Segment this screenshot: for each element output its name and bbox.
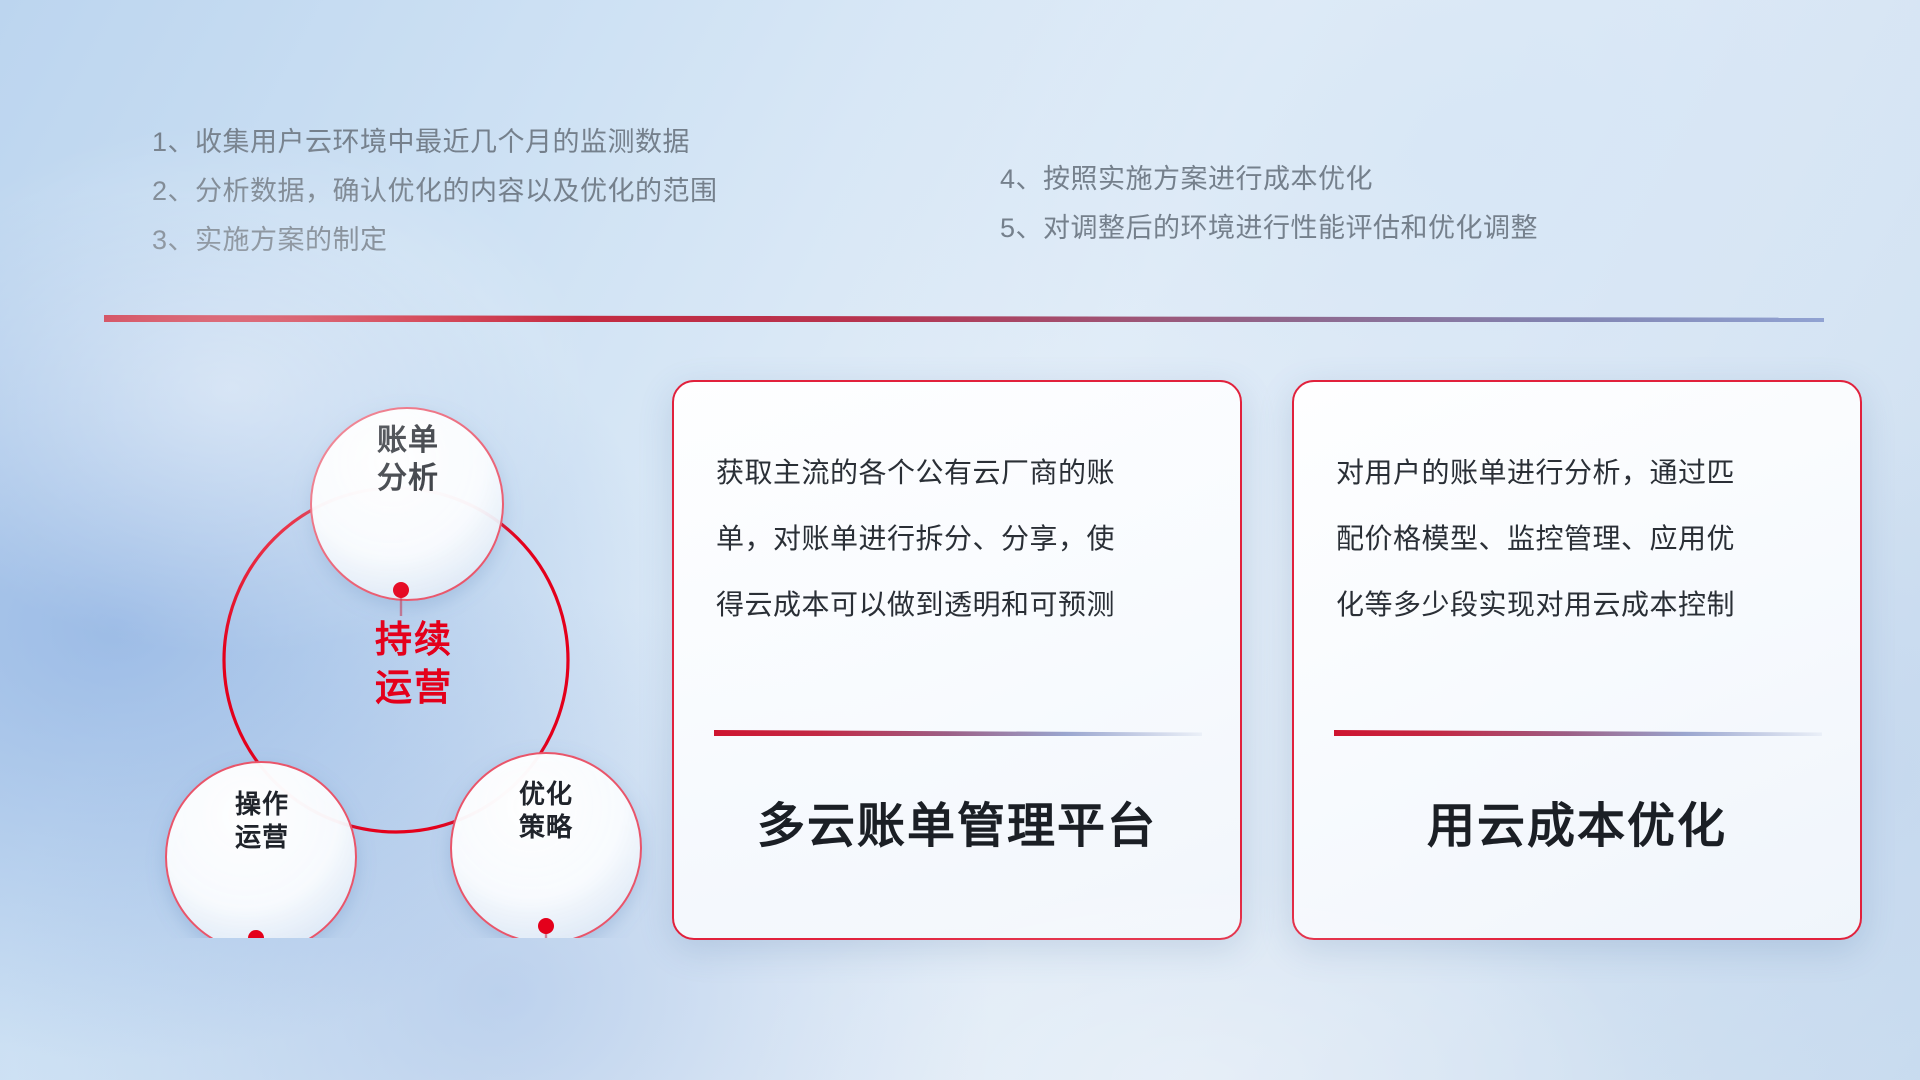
process-steps-right: 4、按照实施方案进行成本优化 5、对调整后的环境进行性能评估和优化调整: [1000, 155, 1538, 253]
process-steps-left: 1、收集用户云环境中最近几个月的监测数据 2、分析数据，确认优化的内容以及优化的…: [152, 118, 718, 265]
divider-bar: [104, 315, 1824, 322]
process-step-5: 5、对调整后的环境进行性能评估和优化调整: [1000, 204, 1538, 253]
card-1-body: 获取主流的各个公有云厂商的账 单，对账单进行拆分、分享，使 得云成本可以做到透明…: [716, 440, 1204, 637]
card-1-title: 多云账单管理平台: [674, 786, 1240, 856]
slide-background: 1、收集用户云环境中最近几个月的监测数据 2、分析数据，确认优化的内容以及优化的…: [0, 0, 1920, 1080]
card-2-body-line-3: 化等多少段实现对用云成本控制: [1336, 572, 1824, 638]
card-1-body-line-2: 单，对账单进行拆分、分享，使: [716, 506, 1204, 572]
section-divider: [104, 315, 1824, 322]
venn-dot-bill: [393, 582, 409, 598]
venn-diagram: 账单 分析 操作 运营 优化 策略 持续 运营: [96, 338, 656, 938]
venn-bubble-bill: [311, 408, 503, 600]
venn-svg: [96, 338, 656, 938]
card-1-divider: [714, 730, 1202, 736]
card-1-body-line-1: 获取主流的各个公有云厂商的账: [716, 440, 1204, 506]
card-2-title: 用云成本优化: [1294, 786, 1860, 856]
card-2-divider: [1334, 730, 1822, 736]
process-step-1: 1、收集用户云环境中最近几个月的监测数据: [152, 118, 718, 167]
venn-dot-strategy: [538, 918, 554, 934]
venn-bubble-ops: [166, 762, 356, 938]
process-step-2: 2、分析数据，确认优化的内容以及优化的范围: [152, 167, 718, 216]
process-step-3: 3、实施方案的制定: [152, 216, 718, 265]
card-2-body: 对用户的账单进行分析，通过匹 配价格模型、监控管理、应用优 化等多少段实现对用云…: [1336, 440, 1824, 637]
card-multi-cloud-billing-platform[interactable]: 获取主流的各个公有云厂商的账 单，对账单进行拆分、分享，使 得云成本可以做到透明…: [672, 380, 1242, 940]
venn-bubble-strategy: [451, 753, 641, 938]
card-2-body-line-2: 配价格模型、监控管理、应用优: [1336, 506, 1824, 572]
card-1-body-line-3: 得云成本可以做到透明和可预测: [716, 572, 1204, 638]
card-2-body-line-1: 对用户的账单进行分析，通过匹: [1336, 440, 1824, 506]
process-step-4: 4、按照实施方案进行成本优化: [1000, 155, 1538, 204]
card-cloud-cost-optimization[interactable]: 对用户的账单进行分析，通过匹 配价格模型、监控管理、应用优 化等多少段实现对用云…: [1292, 380, 1862, 940]
